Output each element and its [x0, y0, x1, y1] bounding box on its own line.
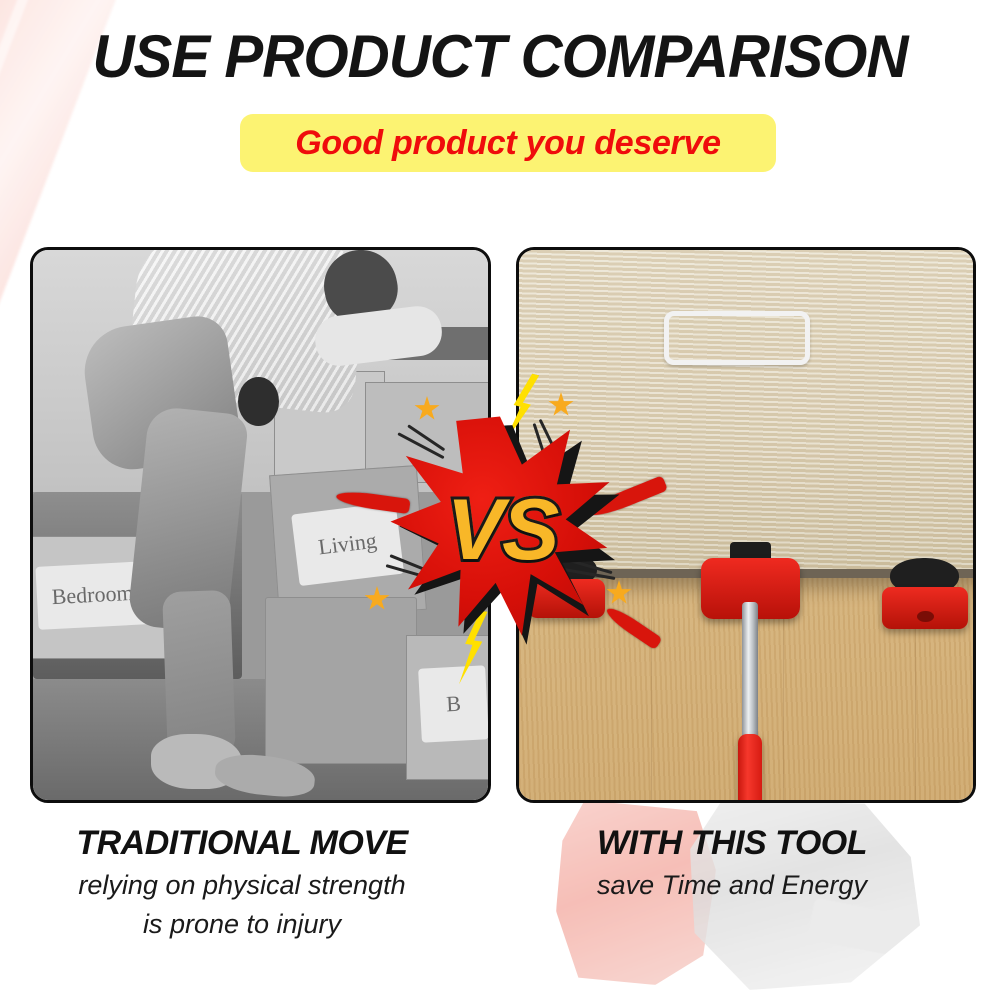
caption-title: TRADITIONAL MOVE: [22, 824, 462, 863]
lifter-grip-handle: [738, 734, 762, 803]
lifter-shaft: [742, 602, 757, 751]
person-shin: [162, 590, 236, 757]
person-hand: [238, 377, 279, 427]
tagline-banner: Good product you deserve: [240, 114, 776, 172]
roller-dolly: [882, 558, 968, 630]
furniture-handle-icon: [664, 311, 810, 365]
roller-body: [528, 579, 605, 619]
roller-body: [882, 587, 968, 630]
photo-traditional-move: Bedroom Living B: [33, 250, 488, 800]
photo-with-this-tool: [519, 250, 973, 800]
caption-title: WITH THIS TOOL: [512, 824, 952, 863]
comparison-panel-with-tool: [516, 247, 976, 803]
tagline-text: Good product you deserve: [295, 124, 720, 163]
caption-line-2: is prone to injury: [22, 908, 462, 941]
moving-box: B: [406, 635, 491, 780]
caption-traditional: TRADITIONAL MOVE relying on physical str…: [22, 824, 462, 941]
caption-with-tool: WITH THIS TOOL save Time and Energy: [512, 824, 952, 902]
caption-line-1: save Time and Energy: [512, 869, 952, 902]
box-label: B: [418, 666, 489, 744]
page-title: USE PRODUCT COMPARISON: [15, 22, 985, 91]
comparison-panel-traditional: Bedroom Living B: [30, 247, 491, 803]
scene-furniture-panel: [516, 247, 976, 578]
product-comparison-infographic: USE PRODUCT COMPARISON Good product you …: [0, 0, 1000, 1000]
caption-line-1: relying on physical strength: [22, 869, 462, 902]
box-label: Living: [292, 502, 405, 586]
moving-box: [265, 597, 417, 764]
roller-dolly: [528, 553, 605, 619]
